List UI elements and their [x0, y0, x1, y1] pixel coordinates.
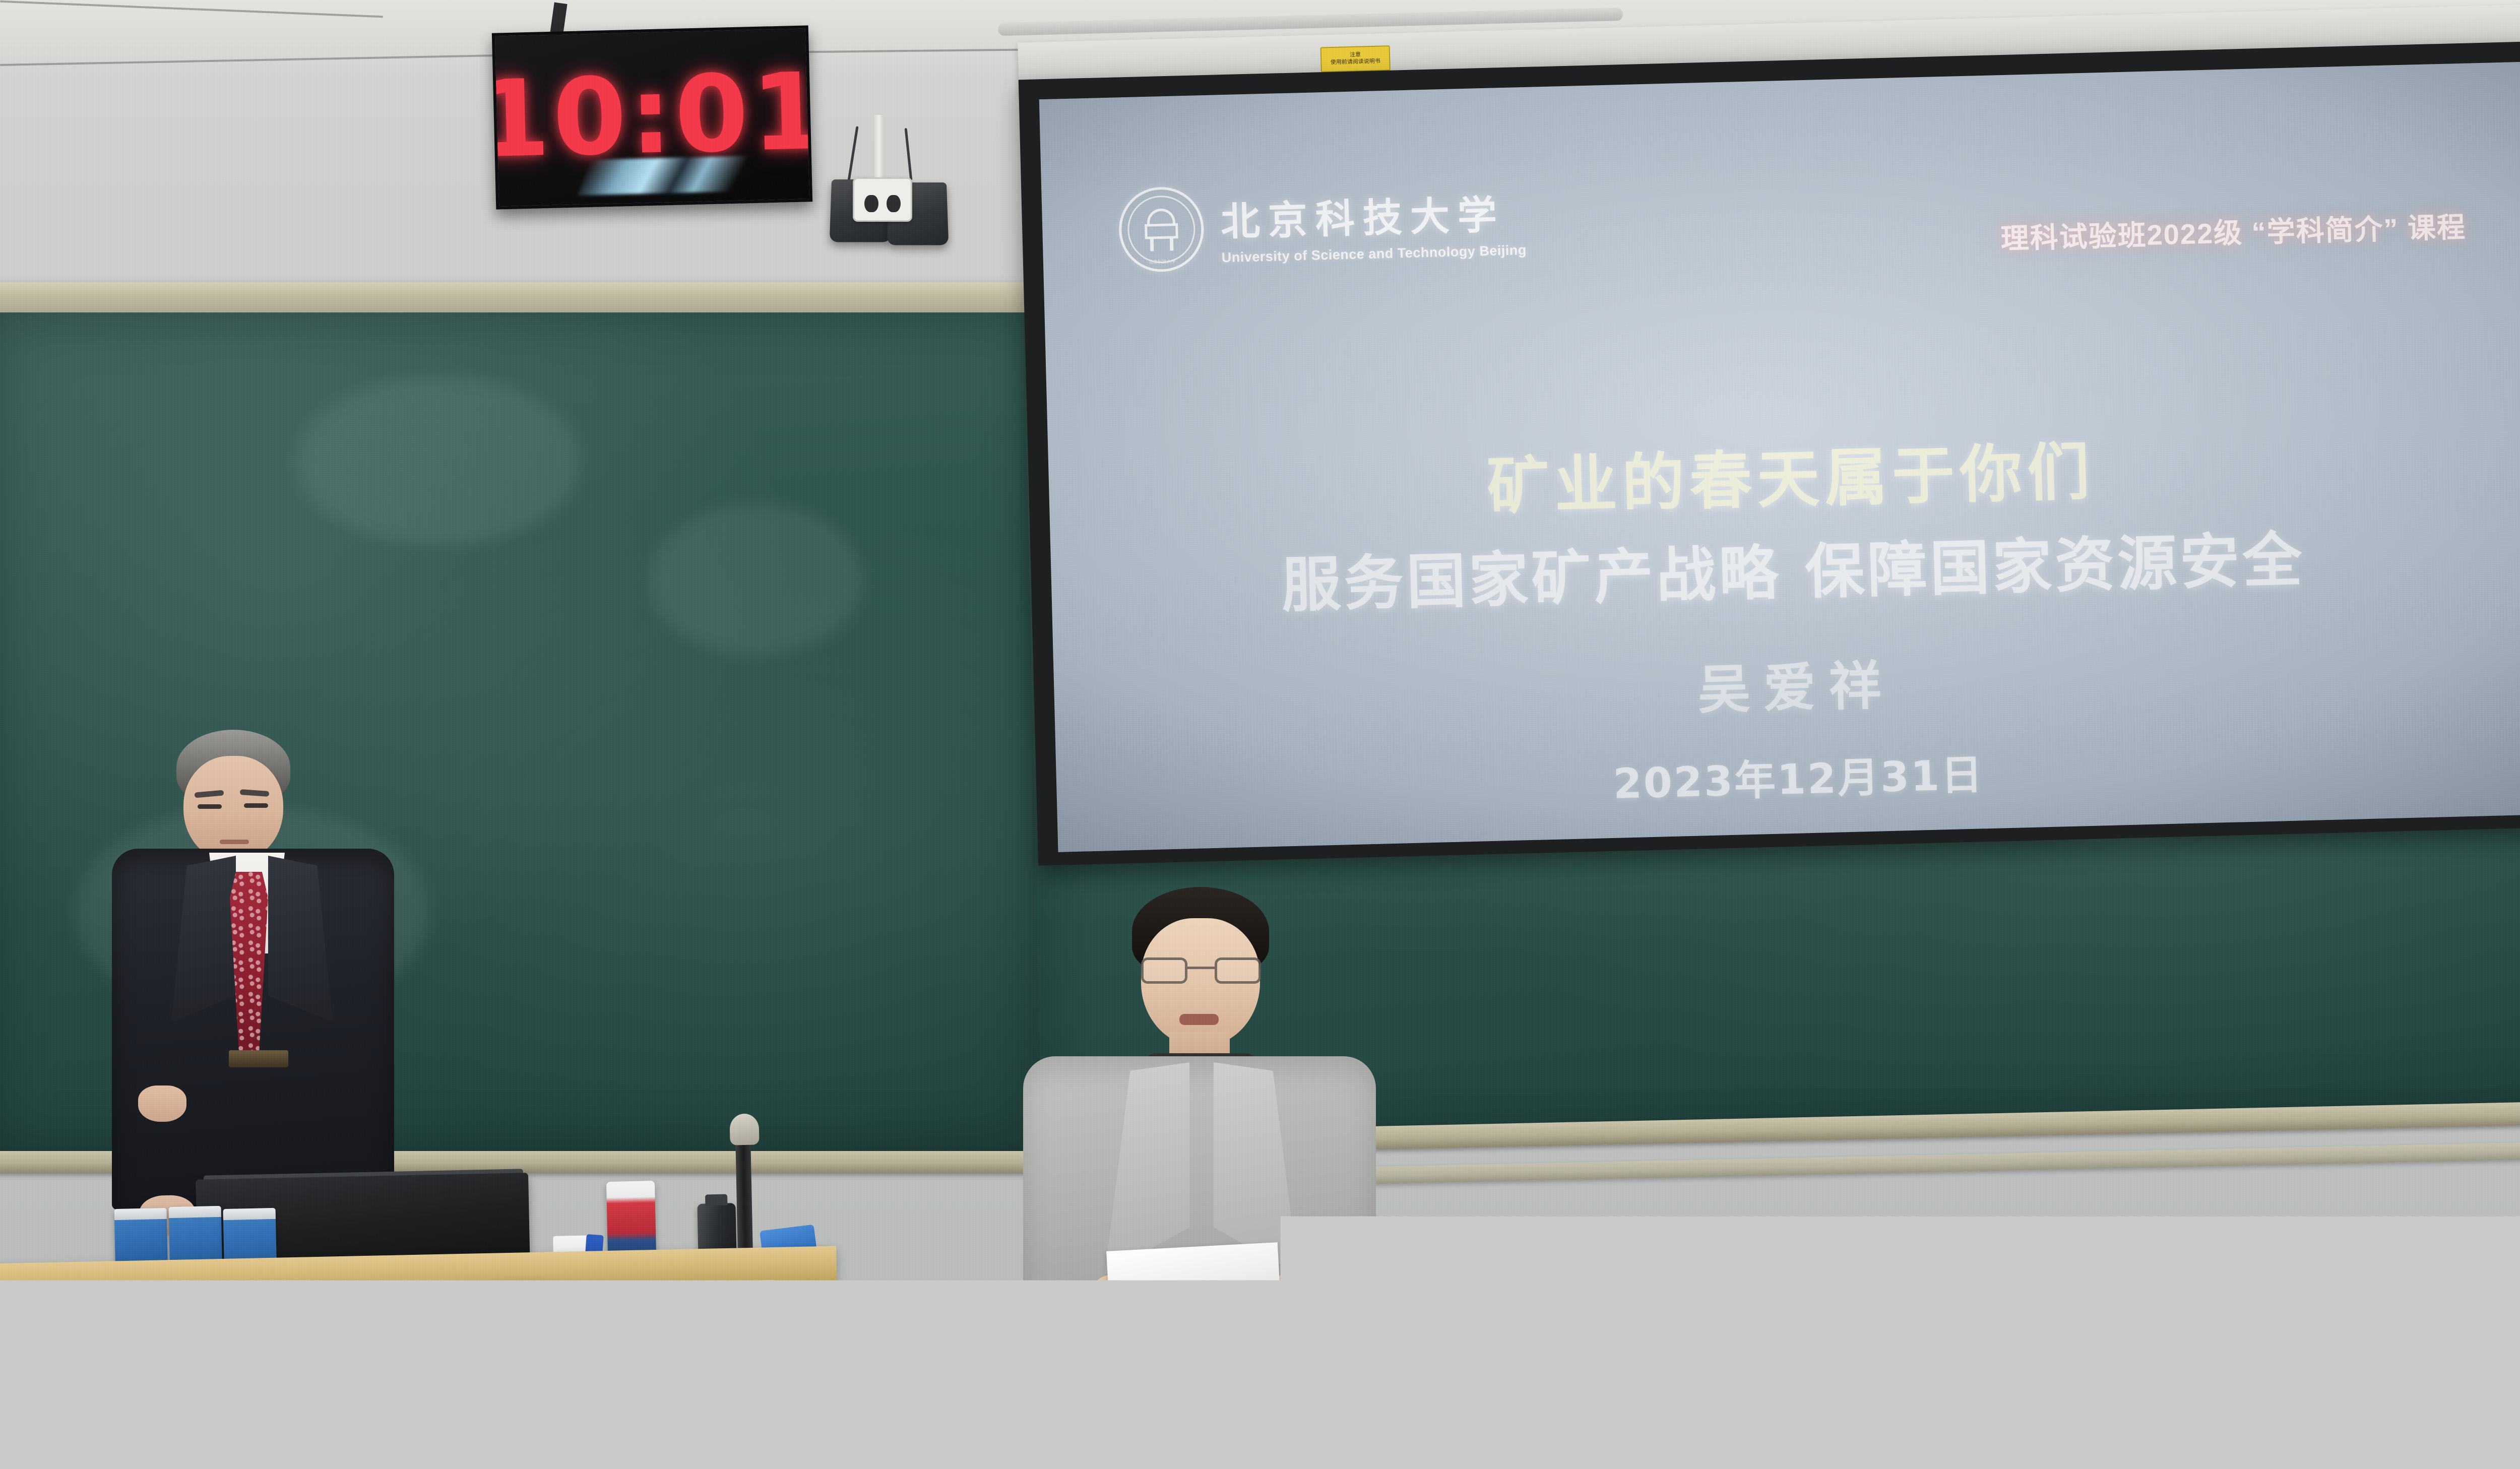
quilt-stitch: [2004, 1366, 2022, 1461]
projected-slide: 北京科技大学 北京科技大学 University of Science and …: [1039, 62, 2520, 852]
podium-seal-leg: [334, 1408, 339, 1424]
watermark-seal-icon: [2132, 1330, 2208, 1412]
watermark-ding-glyph: [2154, 1353, 2186, 1392]
chalk-box-lid: [223, 1208, 276, 1220]
wm-seal-body: [2155, 1366, 2184, 1380]
senior-speaker: [101, 730, 403, 1208]
chalk-box-lid: [168, 1206, 221, 1218]
chalk-box-lid: [114, 1208, 167, 1220]
draped-jacket: [1745, 1324, 2135, 1469]
microphone-head: [729, 1113, 759, 1145]
student-jacket: [388, 1434, 660, 1469]
wm-seal-leg: [2176, 1379, 2179, 1391]
glasses-lens: [1141, 957, 1187, 984]
speaker-belt: [229, 1050, 288, 1067]
speaker-hand: [138, 1085, 186, 1122]
quilt-stitch: [1780, 1337, 1976, 1391]
speaker-eye: [198, 804, 222, 809]
wall-outlet: [853, 177, 912, 222]
glasses-lens: [1215, 957, 1261, 984]
chalk-residue: [650, 504, 862, 655]
speaker-eye: [244, 803, 268, 808]
chalkboard-frame-top: [0, 282, 1058, 315]
watermark-url: http://news.ustb.edu.cn: [2221, 1386, 2479, 1409]
hair-clip: [84, 1434, 111, 1457]
projection-screen-border: 北京科技大学 北京科技大学 University of Science and …: [1019, 41, 2520, 866]
presenter-mouth: [1179, 1014, 1219, 1025]
chalk-residue: [297, 378, 580, 544]
wall-led-clock: 10:01: [492, 25, 812, 209]
held-paper-sheet: [1106, 1242, 1281, 1311]
quilt-stitch: [1810, 1405, 2042, 1420]
projection-vignette: [1039, 62, 2520, 852]
warning-label-line1: 注意: [1350, 52, 1361, 59]
outlet-socket-hole: [864, 195, 878, 212]
glasses-bridge: [1187, 967, 1215, 969]
news-watermark: 北科大新闻网 http://news.ustb.edu.cn: [2132, 1330, 2479, 1412]
clock-glass-reflection: [578, 156, 752, 195]
watermark-site-name: 北科大新闻网: [2221, 1333, 2479, 1382]
outlet-conduit: [874, 115, 884, 180]
warning-label-line2: 使用前请阅读说明书: [1331, 58, 1380, 67]
podium-seal-leg: [358, 1408, 363, 1424]
wm-seal-leg: [2160, 1379, 2163, 1391]
podium-seal-body: [327, 1389, 370, 1411]
watermark-text-block: 北科大新闻网 http://news.ustb.edu.cn: [2221, 1333, 2479, 1409]
warning-label: 注意 使用前请阅读说明书: [1320, 45, 1391, 72]
host-presenter: [1018, 887, 1381, 1469]
eyeglasses-icon: [1141, 957, 1261, 985]
lecture-hall-photo: 10:01 注意 使用前请阅读说明书: [0, 0, 2520, 1469]
speaker-face: [183, 756, 283, 863]
outlet-socket-hole: [887, 195, 901, 212]
belt-buckle: [1178, 1360, 1225, 1380]
wristwatch: [1298, 1274, 1319, 1304]
speaker-mouth: [220, 840, 249, 844]
